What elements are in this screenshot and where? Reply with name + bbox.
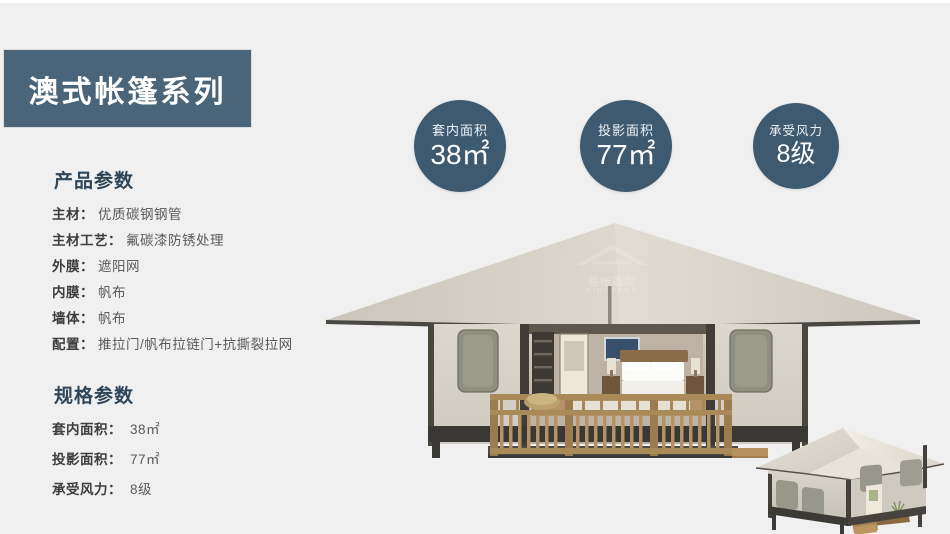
stat-circle-wind-resistance: 承受风力 8级 — [753, 103, 839, 189]
parameter-row: 主材： 优质碳钢钢管 — [52, 201, 352, 225]
parameter-row: 内膜： 帆布 — [52, 279, 352, 303]
spec-section-heading: 规格参数 — [54, 381, 352, 408]
parameter-label: 墙体： — [52, 307, 94, 327]
parameter-value: 遮阳网 — [98, 255, 140, 275]
spec-value: 8级 — [130, 478, 152, 498]
parameter-label: 主材工艺： — [52, 229, 122, 249]
parameter-row: 墙体： 帆布 — [52, 305, 352, 329]
parameter-value: 氟碳漆防锈处理 — [126, 229, 224, 249]
stat-circle-projected-area: 投影面积 77㎡ — [580, 100, 672, 192]
spec-row: 套内面积： 38㎡ — [52, 416, 352, 440]
spec-row: 投影面积： 77㎡ — [52, 446, 352, 470]
parameter-label: 主材： — [52, 203, 94, 223]
stat-label: 承受风力 — [769, 125, 823, 138]
stat-value: 77㎡ — [596, 141, 655, 169]
spec-value: 38㎡ — [130, 418, 160, 438]
info-panel: 产品参数 主材： 优质碳钢钢管 主材工艺： 氟碳漆防锈处理 外膜： 遮阳网 内膜… — [52, 166, 352, 506]
parameter-value: 帆布 — [98, 281, 126, 301]
spec-label: 投影面积： — [52, 448, 122, 468]
title-banner: 澳式帐篷系列 — [3, 49, 252, 128]
stat-label: 投影面积 — [598, 124, 654, 137]
parameter-row: 外膜： 遮阳网 — [52, 253, 352, 277]
product-section-heading: 产品参数 — [54, 166, 352, 193]
stat-circle-interior-area: 套内面积 38㎡ — [414, 100, 506, 192]
product-parameters-section: 产品参数 主材： 优质碳钢钢管 主材工艺： 氟碳漆防锈处理 外膜： 遮阳网 内膜… — [52, 166, 352, 355]
tent-thumbnail-image — [748, 418, 948, 534]
parameter-label: 内膜： — [52, 281, 94, 301]
product-parameter-list: 主材： 优质碳钢钢管 主材工艺： 氟碳漆防锈处理 外膜： 遮阳网 内膜： 帆布 … — [52, 201, 352, 355]
parameter-value: 推拉门/帆布拉链门+抗撕裂拉网 — [98, 333, 293, 353]
stat-label: 套内面积 — [432, 124, 488, 137]
spec-label: 套内面积： — [52, 418, 122, 438]
page-title: 澳式帐篷系列 — [29, 67, 227, 111]
parameter-label: 外膜： — [52, 255, 94, 275]
parameter-row: 主材工艺： 氟碳漆防锈处理 — [52, 227, 352, 251]
parameter-row: 配置： 推拉门/帆布拉链门+抗撕裂拉网 — [52, 331, 352, 355]
spec-parameter-list: 套内面积： 38㎡ 投影面积： 77㎡ 承受风力： 8级 — [52, 416, 352, 500]
parameter-label: 配置： — [52, 333, 94, 353]
spec-row: 承受风力： 8级 — [52, 476, 352, 500]
stat-value: 8级 — [777, 142, 816, 167]
tent-thumbnail-illustration — [748, 418, 948, 534]
parameter-value: 优质碳钢钢管 — [98, 203, 182, 223]
spec-value: 77㎡ — [130, 448, 160, 468]
parameter-value: 帆布 — [98, 307, 126, 327]
spec-label: 承受风力： — [52, 478, 122, 498]
page-root: 澳式帐篷系列 产品参数 主材： 优质碳钢钢管 主材工艺： 氟碳漆防锈处理 外膜：… — [0, 0, 950, 534]
spec-parameters-section: 规格参数 套内面积： 38㎡ 投影面积： 77㎡ 承受风力： 8级 — [52, 381, 352, 500]
stat-value: 38㎡ — [430, 141, 489, 169]
